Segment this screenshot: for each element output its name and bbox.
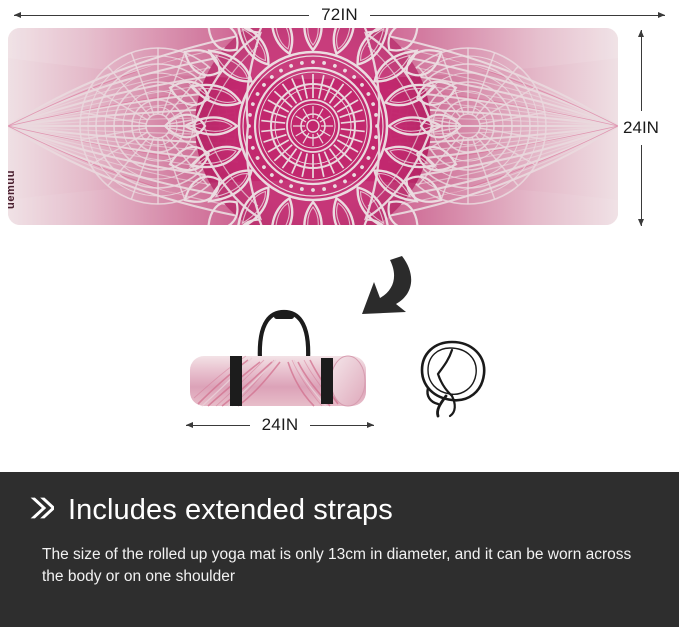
arrow-left-icon [14, 15, 309, 16]
arrow-left-icon [186, 425, 250, 426]
yoga-mat-rolled [188, 306, 374, 410]
banner-description: The size of the rolled up yoga mat is on… [28, 544, 648, 588]
rolled-mat-width-label: 24IN [250, 415, 311, 435]
strap-sketch-icon [412, 334, 496, 418]
strap-right [321, 358, 333, 404]
mandala-pattern [8, 28, 618, 225]
arrow-right-icon [310, 425, 374, 426]
mat-width-dimension: 24IN [613, 30, 669, 226]
double-chevron-right-icon [28, 495, 54, 526]
yoga-mat-flat: uemuu [8, 28, 618, 225]
arrow-down-icon [641, 145, 642, 226]
arrow-right-icon [370, 15, 665, 16]
brand-mark: uemuu [8, 170, 17, 209]
mat-length-dimension: 72IN [14, 4, 665, 26]
mat-length-label: 72IN [309, 5, 370, 25]
carry-handle [260, 312, 308, 360]
banner-heading-row: Includes extended straps [28, 494, 651, 527]
mat-width-label: 24IN [623, 111, 659, 145]
strap-left [230, 356, 242, 406]
arrow-up-icon [641, 30, 642, 111]
feature-banner: Includes extended straps The size of the… [0, 472, 679, 627]
banner-title: Includes extended straps [68, 494, 393, 527]
rolled-mat-dimension: 24IN [186, 414, 374, 436]
